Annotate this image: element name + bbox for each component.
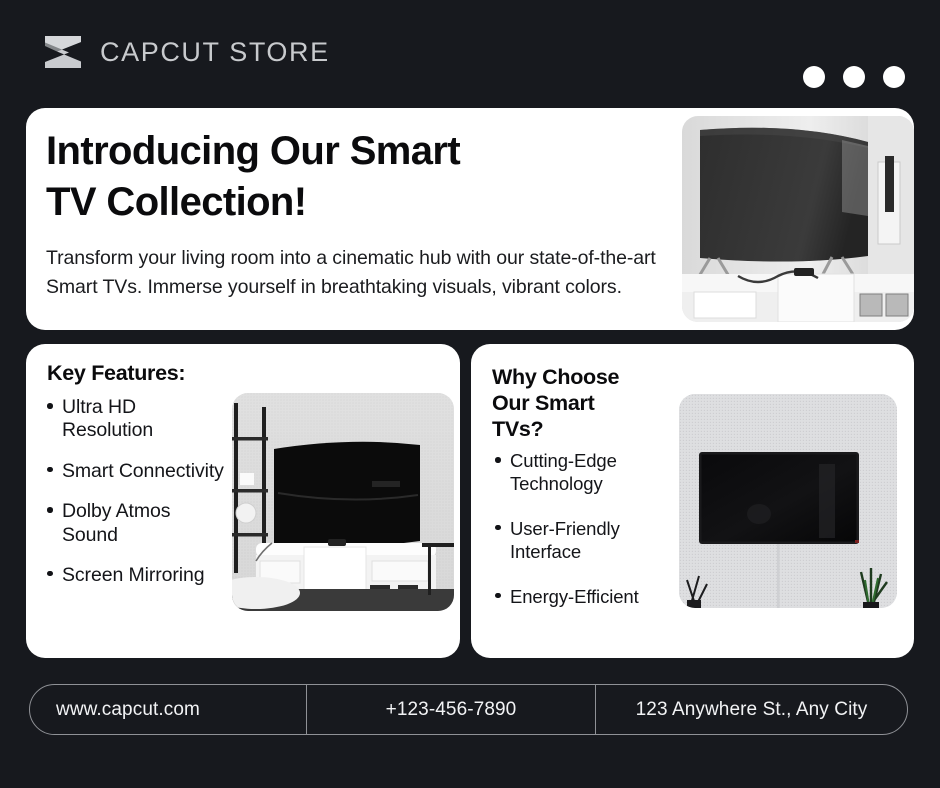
hero-title-line1: Introducing Our Smart (46, 129, 460, 173)
footer-website[interactable]: www.capcut.com (30, 685, 306, 734)
dot-1-icon (803, 66, 825, 88)
why-choose-image (679, 394, 897, 608)
list-item: Energy-Efficient (495, 586, 695, 609)
hero-image (682, 116, 914, 322)
hero-title: Introducing Our Smart TV Collection! (46, 126, 666, 228)
footer-bar: www.capcut.com +123-456-7890 123 Anywher… (29, 684, 908, 735)
list-item: User-Friendly Interface (495, 518, 695, 564)
footer-phone[interactable]: +123-456-7890 (306, 685, 596, 734)
hero-card: Introducing Our Smart TV Collection! Tra… (26, 108, 914, 330)
key-features-card: Key Features: Ultra HD Resolution Smart … (26, 344, 460, 658)
brand: CAPCUT STORE (41, 32, 330, 72)
hero-text-block: Introducing Our Smart TV Collection! Tra… (46, 126, 666, 303)
why-choose-title-line1: Why Choose (492, 365, 619, 389)
why-choose-title: Why Choose Our Smart TVs? (492, 364, 672, 443)
footer-address: 123 Anywhere St., Any City (596, 685, 907, 734)
key-features-title: Key Features: (47, 361, 185, 386)
dot-3-icon (883, 66, 905, 88)
list-item: Smart Connectivity (47, 460, 227, 483)
key-features-image (232, 393, 454, 611)
poster-canvas: CAPCUT STORE Introducing Our Smart TV Co… (0, 0, 940, 788)
capcut-logo-icon (41, 32, 85, 72)
dot-2-icon (843, 66, 865, 88)
why-choose-list: Cutting-Edge Technology User-Friendly In… (495, 450, 695, 631)
list-item: Dolby Atmos Sound (47, 500, 227, 547)
why-choose-title-line2: Our Smart (492, 391, 594, 415)
hero-body: Transform your living room into a cinema… (46, 244, 666, 303)
why-choose-title-line3: TVs? (492, 417, 543, 441)
hero-title-line2: TV Collection! (46, 180, 307, 224)
brand-name: CAPCUT STORE (100, 37, 330, 68)
key-features-list: Ultra HD Resolution Smart Connectivity D… (47, 396, 227, 604)
header-bar: CAPCUT STORE (0, 0, 940, 104)
list-item: Screen Mirroring (47, 564, 227, 587)
why-choose-card: Why Choose Our Smart TVs? Cutting-Edge T… (471, 344, 914, 658)
list-item: Cutting-Edge Technology (495, 450, 695, 496)
list-item: Ultra HD Resolution (47, 396, 227, 443)
window-dots (803, 66, 905, 88)
